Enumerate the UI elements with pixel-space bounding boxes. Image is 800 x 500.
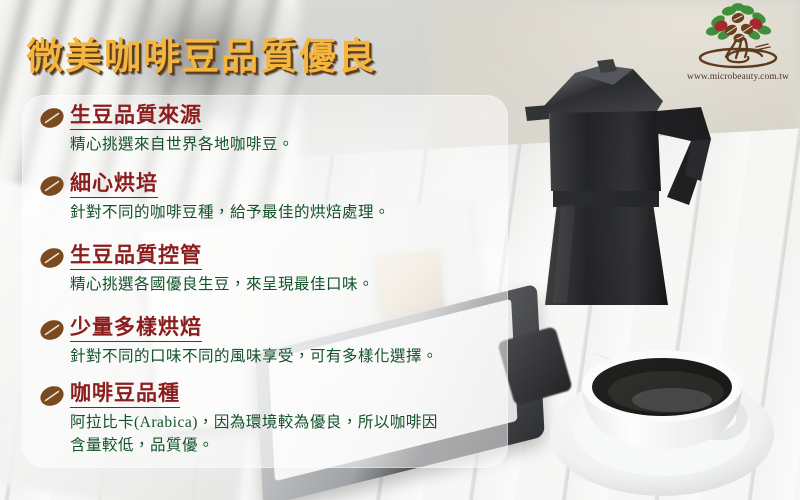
poster-canvas: 微美咖啡豆品質優良 生豆品質來源 精心挑選來自世界各地咖啡豆。 細心烘培 [0, 0, 800, 500]
list-item-desc: 針對不同的咖啡豆種，給予最佳的烘焙處理。 [70, 202, 390, 224]
coffee-bean-icon [39, 107, 65, 129]
list-item-heading: 生豆品質來源 [70, 102, 202, 130]
page-title: 微美咖啡豆品質優良 [26, 26, 377, 80]
list-item: 少量多樣烘焙 針對不同的口味不同的風味享受，可有多樣化選擇。 [22, 314, 438, 369]
list-item-heading: 細心烘培 [70, 170, 158, 198]
list-item: 生豆品質控管 精心挑選各國優良生豆，來呈現最佳口味。 [22, 242, 374, 297]
list-item: 咖啡豆品種 阿拉比卡(Arabica)，因為環境較為優良，所以咖啡因 含量較低，… [22, 380, 438, 457]
list-item-heading: 生豆品質控管 [70, 242, 202, 270]
list-item-desc: 阿拉比卡(Arabica)，因為環境較為優良，所以咖啡因 含量較低，品質優。 [70, 412, 438, 457]
brand-logo[interactable]: www.microbeauty.com.tw [682, 2, 794, 82]
list-item: 細心烘培 針對不同的咖啡豆種，給予最佳的烘焙處理。 [22, 170, 390, 225]
logo-url[interactable]: www.microbeauty.com.tw [682, 72, 794, 82]
list-item: 生豆品質來源 精心挑選來自世界各地咖啡豆。 [22, 102, 294, 157]
coffee-bean-icon [39, 385, 65, 407]
list-item-desc: 精心挑選各國優良生豆，來呈現最佳口味。 [70, 274, 374, 296]
coffee-tree-logo-icon [692, 2, 784, 70]
list-item-desc: 精心挑選來自世界各地咖啡豆。 [70, 134, 294, 156]
coffee-bean-icon [39, 247, 65, 269]
coffee-bean-icon [39, 175, 65, 197]
list-item-desc: 針對不同的口味不同的風味享受，可有多樣化選擇。 [70, 346, 438, 368]
list-item-heading: 少量多樣烘焙 [70, 314, 202, 342]
coffee-bean-icon [39, 319, 65, 341]
list-item-heading: 咖啡豆品種 [70, 380, 180, 408]
